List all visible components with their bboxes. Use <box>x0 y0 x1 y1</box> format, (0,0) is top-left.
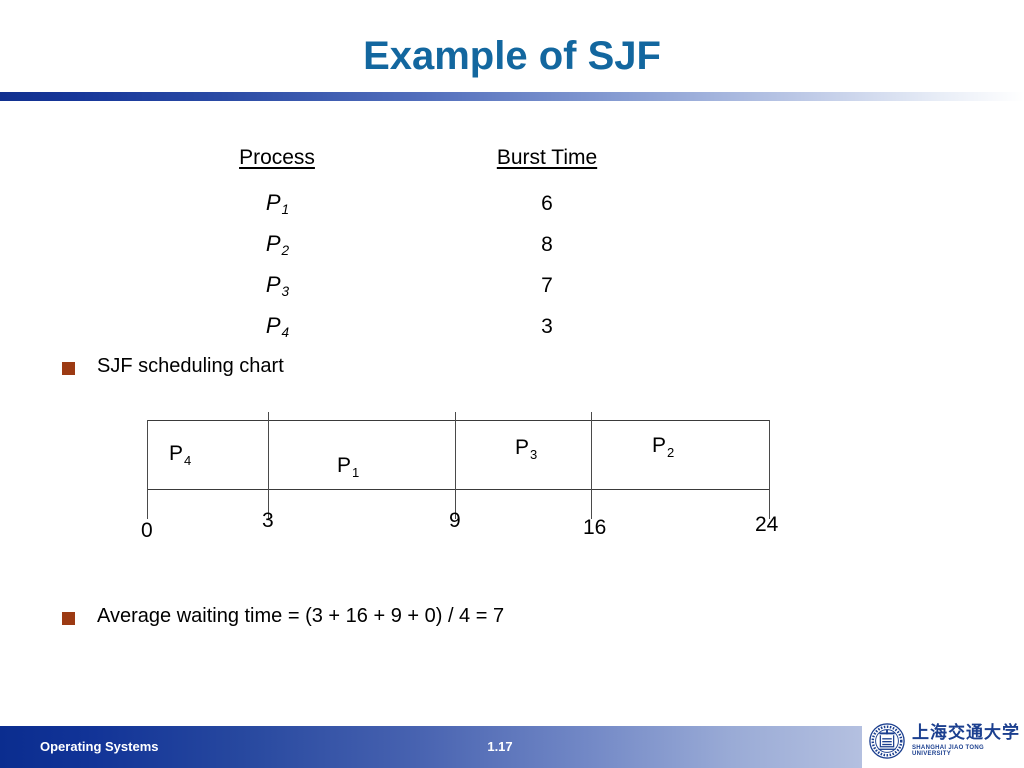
gantt-tick-3 <box>268 412 269 519</box>
gantt-segment-label-p1: P1 <box>337 454 358 478</box>
burst-time-cell: 7 <box>407 274 687 298</box>
burst-time-cell: 3 <box>407 315 687 339</box>
logo-name-english: SHANGHAI JIAO TONG UNIVERSITY <box>912 745 1020 757</box>
gantt-axis-label-16: 16 <box>583 516 606 540</box>
gantt-axis-label-9: 9 <box>449 509 461 533</box>
table-row: P3 7 <box>147 272 767 313</box>
footer-page-number: 1.17 <box>440 739 560 754</box>
sjtu-seal-icon <box>868 722 906 760</box>
square-bullet-icon <box>62 612 75 625</box>
university-logo: 上海交通大学 SHANGHAI JIAO TONG UNIVERSITY <box>868 718 1020 764</box>
process-label: P <box>266 231 281 256</box>
process-name-cell: P2 <box>147 231 407 257</box>
gantt-tick-24 <box>769 420 770 519</box>
burst-time-cell: 8 <box>407 233 687 257</box>
gantt-tick-9 <box>455 412 456 519</box>
gantt-segment-label-p2: P2 <box>652 434 673 458</box>
square-bullet-icon <box>62 362 75 375</box>
process-label: P <box>266 313 281 338</box>
logo-wordmark: 上海交通大学 SHANGHAI JIAO TONG UNIVERSITY <box>912 725 1020 757</box>
column-header-process: Process <box>147 146 407 170</box>
burst-time-cell: 6 <box>407 192 687 216</box>
process-name-cell: P1 <box>147 190 407 216</box>
process-subscript: 1 <box>282 202 290 217</box>
gantt-axis-label-0: 0 <box>141 519 153 543</box>
header-divider <box>0 92 1024 101</box>
column-header-burst-time: Burst Time <box>407 146 687 170</box>
bullet-label: Average waiting time = (3 + 16 + 9 + 0) … <box>97 605 504 628</box>
bullet-average-waiting-time: Average waiting time = (3 + 16 + 9 + 0) … <box>62 605 504 628</box>
logo-name-chinese: 上海交通大学 <box>912 725 1020 743</box>
footer-course-name: Operating Systems <box>40 739 159 754</box>
process-label: P <box>266 272 281 297</box>
gantt-tick-0 <box>147 420 148 519</box>
process-burst-table: Process Burst Time P1 6 P2 8 P3 7 P4 3 <box>147 146 767 354</box>
table-row: P1 6 <box>147 190 767 231</box>
gantt-axis-label-3: 3 <box>262 509 274 533</box>
process-subscript: 3 <box>282 284 290 299</box>
gantt-axis-label-24: 24 <box>755 513 778 537</box>
gantt-segment-label-p3: P3 <box>515 436 536 460</box>
process-subscript: 2 <box>282 243 290 258</box>
process-name-cell: P3 <box>147 272 407 298</box>
gantt-chart: P4 P1 P3 P2 0 3 9 16 24 <box>147 420 770 490</box>
process-label: P <box>266 190 281 215</box>
process-name-cell: P4 <box>147 313 407 339</box>
table-row: P4 3 <box>147 313 767 354</box>
page-title: Example of SJF <box>0 34 1024 79</box>
bullet-sjf-scheduling-chart: SJF scheduling chart <box>62 355 284 378</box>
table-header-row: Process Burst Time <box>147 146 767 190</box>
gantt-tick-16 <box>591 412 592 519</box>
bullet-label: SJF scheduling chart <box>97 355 284 378</box>
table-row: P2 8 <box>147 231 767 272</box>
process-subscript: 4 <box>282 325 290 340</box>
gantt-segment-label-p4: P4 <box>169 442 190 466</box>
gantt-outline <box>147 420 770 490</box>
